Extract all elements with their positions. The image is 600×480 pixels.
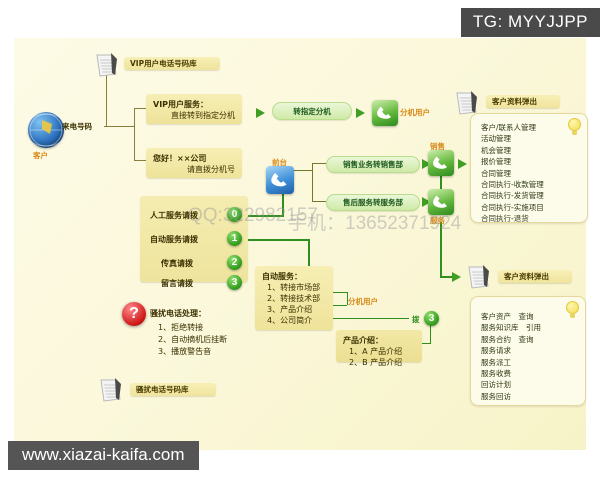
document-icon-vip-db <box>92 50 122 80</box>
auto-service-box: 自动服务： 1、转接市场部 2、转接技术部 3、产品介绍 4、公司简介 <box>255 266 333 330</box>
connector-branch-top <box>134 108 146 109</box>
harass-handling-item: 3、播放警告音 <box>158 346 211 357</box>
vip-service-title: VIP用户服务： <box>153 99 235 110</box>
connector-frontdesk-split <box>312 163 313 201</box>
site-url-badge: www.xiazai-kaifa.com <box>8 441 199 470</box>
harass-phone-db-label: 骚扰电话号码库 <box>130 383 216 396</box>
service-item: 服务请求 <box>481 345 579 356</box>
sales-item: 合同管理 <box>481 168 581 179</box>
product-intro-box: 产品介绍： 1、A 产品介绍 2、B 产品介绍 <box>336 330 422 362</box>
product-intro-item: 1、A 产品介绍 <box>343 346 415 357</box>
caller-id-label: 来电号码 <box>62 121 92 132</box>
service-item: 服务合约 查询 <box>481 334 579 345</box>
connector-branch-vertical <box>134 108 135 160</box>
connector-frontdesk-sales <box>312 163 326 164</box>
service-item: 回访计划 <box>481 379 579 390</box>
connector-frontdesk-right <box>292 170 312 171</box>
vip-service-box: VIP用户服务： 直接转到指定分机 <box>146 94 242 124</box>
arrow-to-extension-phone <box>356 108 365 118</box>
connector-frontdesk-service <box>312 201 326 202</box>
phone-icon-front-desk <box>266 166 294 194</box>
extension-user-label-top: 分机用户 <box>400 107 430 118</box>
service-item: 服务回访 <box>481 391 579 402</box>
auto-service-digit-3[interactable]: 3 <box>424 311 439 326</box>
service-item: 客户资产 查询 <box>481 311 579 322</box>
arrow-to-transfer <box>256 108 265 118</box>
harass-handling-item: 1、拒绝转接 <box>158 322 203 333</box>
arrow-to-sales-panel <box>458 159 467 169</box>
connector-digit3-down <box>430 325 431 343</box>
auto-service-item: 3、产品介绍 <box>262 304 326 315</box>
service-label: 服务 <box>430 215 445 226</box>
sales-item: 客户/联系人管理 <box>481 122 581 133</box>
ivr-digit-3[interactable]: 3 <box>227 275 242 290</box>
question-mark-icon: ? <box>122 302 146 326</box>
phone-icon-extension-top <box>372 100 398 126</box>
ivr-option-label-2: 传真请拨 <box>161 258 193 269</box>
ivr-digit-0[interactable]: 0 <box>227 207 242 222</box>
transfer-extension-pill: 转指定分机 <box>272 102 352 120</box>
sales-transfer-pill: 销售业务转销售部 <box>326 156 420 173</box>
connector-service-down <box>440 222 442 276</box>
sales-function-panel: 客户/联系人管理 活动管理 机会管理 报价管理 合同管理 合同执行-收款管理 合… <box>470 113 588 223</box>
sales-item: 报价管理 <box>481 156 581 167</box>
service-item: 服务收费 <box>481 368 579 379</box>
customer-label: 客户 <box>33 150 48 161</box>
auto-service-title: 自动服务： <box>262 271 326 282</box>
connector-caller-to-branch <box>104 126 134 127</box>
sales-item: 机会管理 <box>481 145 581 156</box>
customer-popup-label-top: 客户资料弹出 <box>486 95 560 108</box>
ivr-digit-1[interactable]: 1 <box>227 231 242 246</box>
connector-digit0-right <box>244 215 284 217</box>
sales-item: 合同执行-发货管理 <box>481 190 581 201</box>
auto-service-item: 4、公司简介 <box>262 315 326 326</box>
arrow-to-popup-bottom <box>452 272 461 282</box>
phone-icon-sales <box>428 150 454 176</box>
product-intro-item: 2、B 产品介绍 <box>343 357 415 368</box>
diagram-canvas-root: TG: MYYJJPP 客户 来电号码 <box>0 0 600 480</box>
lightbulb-icon-sales <box>568 118 581 135</box>
lightbulb-icon-service <box>566 301 579 318</box>
ivr-digit-2[interactable]: 2 <box>227 255 242 270</box>
sales-item: 合同执行-收款管理 <box>481 179 581 190</box>
customer-popup-label-bottom: 客户资料弹出 <box>498 270 572 283</box>
vip-service-line: 直接转到指定分机 <box>153 110 235 121</box>
aftersales-transfer-pill: 售后服务转服务部 <box>326 194 420 211</box>
connector-digit1-down <box>308 239 310 267</box>
connector-digit1-right <box>244 239 310 241</box>
sales-item: 合同执行-实施项目 <box>481 202 581 213</box>
greeting-box: 您好！××公司 请直拨分机号 <box>146 148 242 178</box>
dial-label: 拨 <box>412 314 420 325</box>
ivr-option-label-0: 人工服务请拨 <box>150 210 198 221</box>
phone-icon-service <box>428 189 454 215</box>
document-icon-harass-db <box>96 375 126 405</box>
connector-auto-product <box>329 318 409 319</box>
service-function-panel: 客户资产 查询 服务知识库 引用 服务合约 查询 服务请求 服务派工 服务收费 … <box>470 296 586 406</box>
ivr-option-label-1: 自动服务请拨 <box>150 234 198 245</box>
extension-user-label-bottom: 分机用户 <box>348 296 378 307</box>
sales-item: 活动管理 <box>481 133 581 144</box>
greeting-line1: 您好！××公司 <box>153 153 235 164</box>
product-intro-title: 产品介绍： <box>343 335 415 346</box>
sales-item: 合同执行-退货 <box>481 213 581 224</box>
connector-branch-bottom <box>134 160 146 161</box>
document-icon-popup-bottom <box>464 262 494 292</box>
greeting-line2: 请直拨分机号 <box>153 164 235 175</box>
harass-handling-title: 骚扰电话处理： <box>150 308 206 319</box>
ivr-option-label-3: 留言请拨 <box>161 278 193 289</box>
service-item: 服务派工 <box>481 357 579 368</box>
service-item: 服务知识库 引用 <box>481 322 579 333</box>
harass-handling-item: 2、自动摘机后挂断 <box>158 334 227 345</box>
auto-service-item: 1、转接市场部 <box>262 282 326 293</box>
auto-service-item: 2、转接技术部 <box>262 293 326 304</box>
globe-customer-icon <box>28 112 64 148</box>
tg-watermark-badge: TG: MYYJJPP <box>461 8 600 37</box>
vip-phone-db-label: VIP用户电话号码库 <box>124 57 220 70</box>
